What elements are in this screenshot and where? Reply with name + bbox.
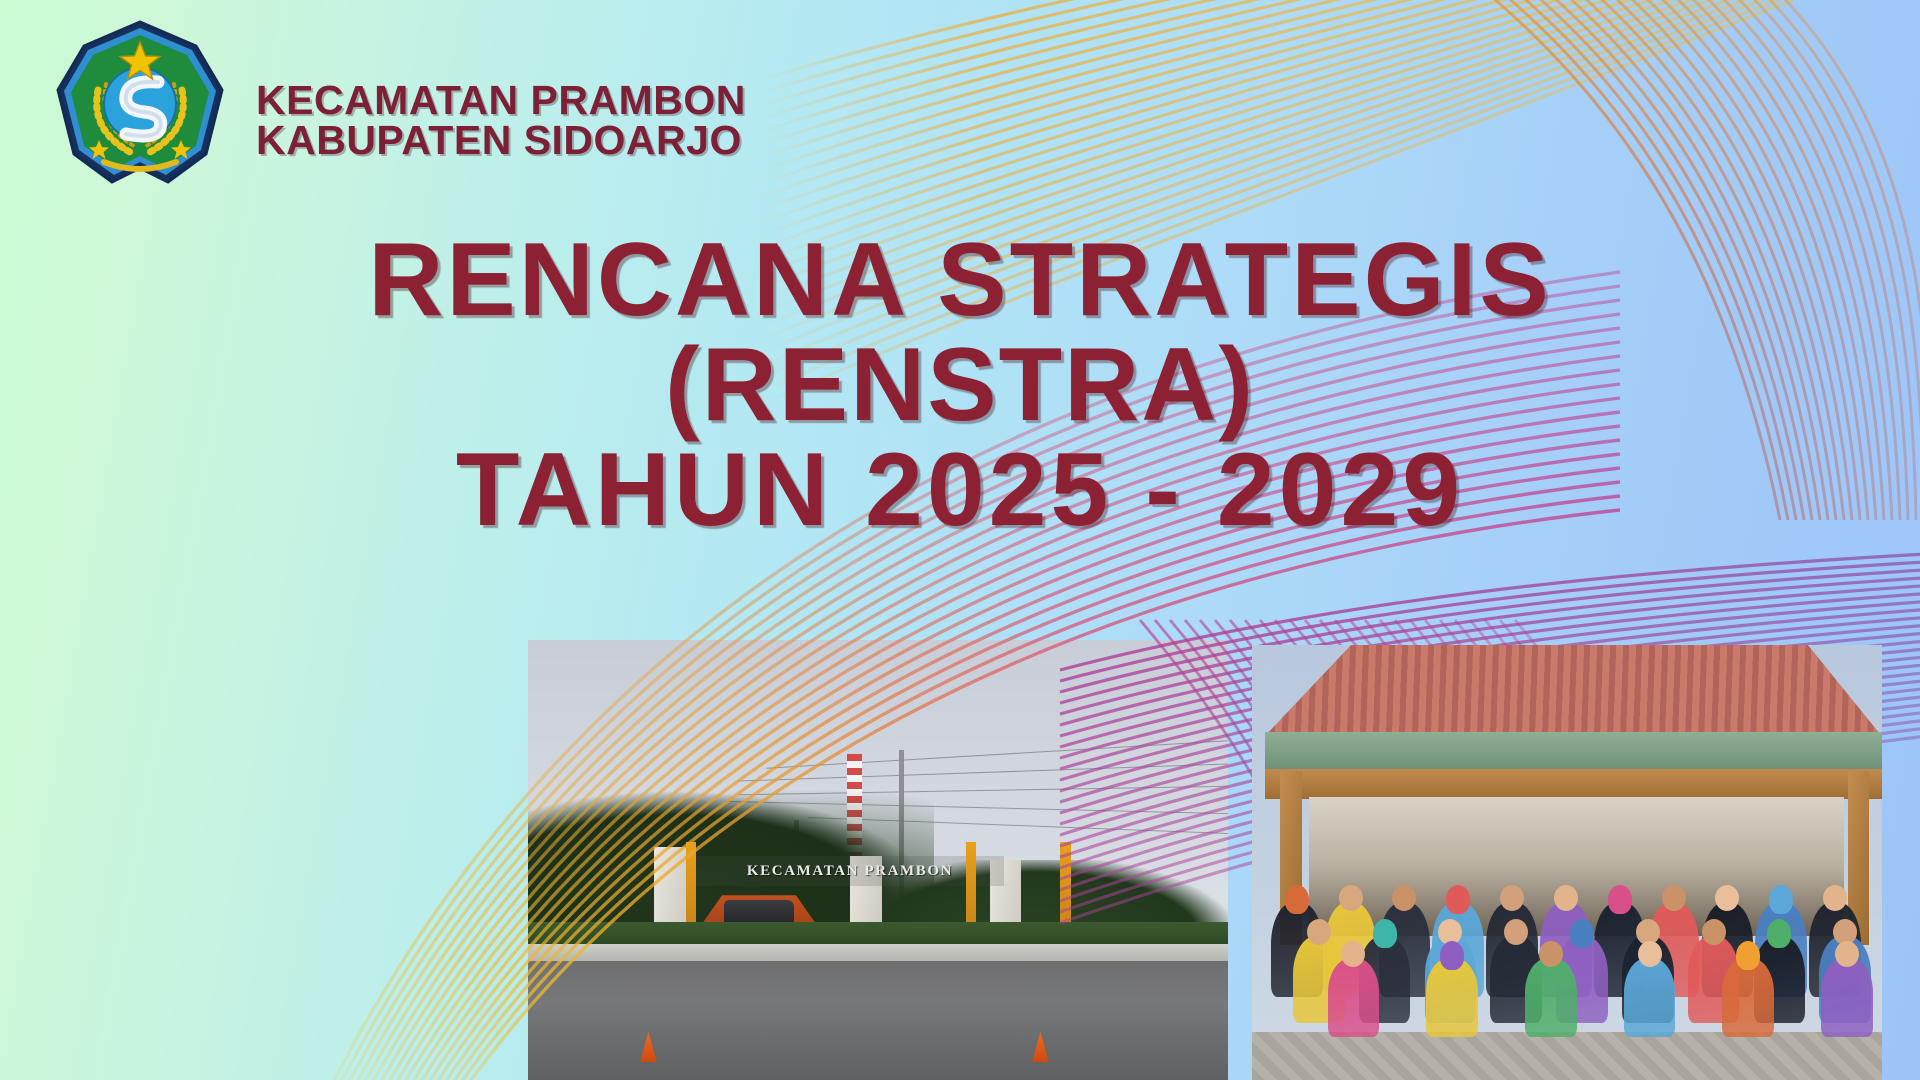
person <box>1426 958 1478 1036</box>
staff-group-photo <box>1252 645 1882 1080</box>
person-head <box>1823 885 1847 911</box>
person <box>1821 958 1873 1036</box>
person-head <box>1638 941 1662 967</box>
title-line-3: TAHUN 2025 - 2029 <box>0 438 1920 543</box>
person-head <box>1440 941 1464 970</box>
pendopo-green-fascia <box>1265 732 1882 771</box>
person-head <box>1504 919 1528 945</box>
person-head <box>1373 919 1397 948</box>
pendopo-tile-roof <box>1265 645 1882 736</box>
person-head <box>1715 885 1739 911</box>
org-name-block: KECAMATAN PRAMBON KABUPATEN SIDOARJO <box>256 45 746 161</box>
title-line-2: (RENSTRA) <box>0 333 1920 438</box>
person <box>1722 958 1774 1036</box>
gate-sign-text: KECAMATAN PRAMBON <box>696 856 1004 887</box>
person-head <box>1662 885 1686 911</box>
person-head <box>1769 885 1793 914</box>
pendopo-wood-beam <box>1265 769 1882 799</box>
person-head <box>1500 885 1524 911</box>
person-head <box>1307 919 1331 945</box>
person-head <box>1392 885 1416 911</box>
road-curb <box>528 944 1228 962</box>
grass-strip <box>528 922 1228 944</box>
person-head <box>1736 941 1760 970</box>
person-head <box>1835 941 1859 967</box>
road-surface <box>528 961 1228 1080</box>
person-head <box>1341 941 1365 967</box>
person-head <box>1539 941 1563 967</box>
gate-sign: KECAMATAN PRAMBON <box>696 856 1004 887</box>
sidoarjo-regency-emblem-icon <box>46 18 234 188</box>
person-head <box>1570 919 1594 948</box>
person-head <box>1767 919 1791 948</box>
kecamatan-prambon-gate-photo: KECAMATAN PRAMBON <box>528 640 1228 1080</box>
person <box>1624 958 1676 1036</box>
header: KECAMATAN PRAMBON KABUPATEN SIDOARJO <box>46 18 746 188</box>
person-head <box>1446 885 1470 914</box>
person <box>1328 958 1380 1036</box>
person-head <box>1554 885 1578 911</box>
person-head <box>1339 885 1363 911</box>
person <box>1525 958 1577 1036</box>
person-head <box>1285 885 1309 914</box>
slide-canvas: KECAMATAN PRAMBON KABUPATEN SIDOARJO REN… <box>0 0 1920 1080</box>
title-line-1: RENCANA STRATEGIS <box>0 228 1920 333</box>
page-title: RENCANA STRATEGIS (RENSTRA) TAHUN 2025 -… <box>0 228 1920 543</box>
person-head <box>1608 885 1632 914</box>
org-line-kabupaten: KABUPATEN SIDOARJO <box>256 121 746 161</box>
person-head <box>1702 919 1726 945</box>
org-line-kecamatan: KECAMATAN PRAMBON <box>256 81 746 121</box>
paving-floor <box>1252 1032 1882 1080</box>
